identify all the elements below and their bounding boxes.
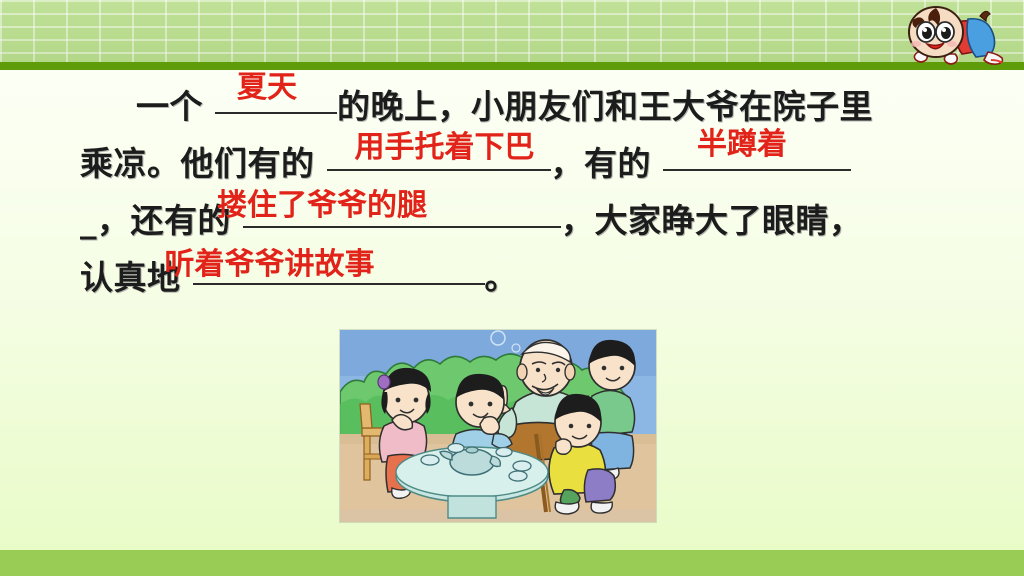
line2-text-middle: ，有的 (551, 144, 652, 183)
answer-text-2: 用手托着下巴 (355, 119, 535, 176)
answer-text-1: 夏天 (237, 59, 297, 116)
line3-text-after: ，大家睁大了眼睛， (561, 201, 863, 240)
answer-blank-4[interactable]: 搂住了爷爷的腿 (243, 192, 561, 232)
line3-text-before: _，还有的 (80, 201, 231, 240)
answer-text-3: 半蹲着 (697, 116, 787, 173)
header-accent-bar (0, 62, 1024, 70)
line1-text-before: 一个 (136, 87, 203, 126)
passage-line-2: 乘凉。他们有的 用手托着下巴 ，有的 半蹲着 (80, 135, 940, 192)
answer-blank-3[interactable]: 半蹲着 (663, 135, 851, 175)
answer-blank-1[interactable]: 夏天 (215, 78, 337, 118)
answer-text-5: 听着爷爷讲故事 (165, 236, 375, 293)
answer-text-4: 搂住了爷爷的腿 (217, 177, 427, 234)
answer-blank-2[interactable]: 用手托着下巴 (327, 135, 551, 175)
header-grid-pattern (0, 0, 1024, 62)
passage-line-4: 认真地 听着爷爷讲故事 。 (80, 249, 940, 306)
fill-in-the-blank-passage: 一个 夏天 的晚上，小朋友们和王大爷在院子里 乘凉。他们有的 用手托着下巴 ，有… (80, 78, 940, 306)
slide-header (0, 0, 1024, 70)
answer-blank-5[interactable]: 听着爷爷讲故事 (193, 249, 485, 289)
crawling-baby-mascot (896, 2, 1016, 68)
slide-footer-bar (0, 550, 1024, 576)
line4-text-after: 。 (485, 258, 519, 297)
grandpa-telling-stories-illustration (340, 330, 656, 522)
